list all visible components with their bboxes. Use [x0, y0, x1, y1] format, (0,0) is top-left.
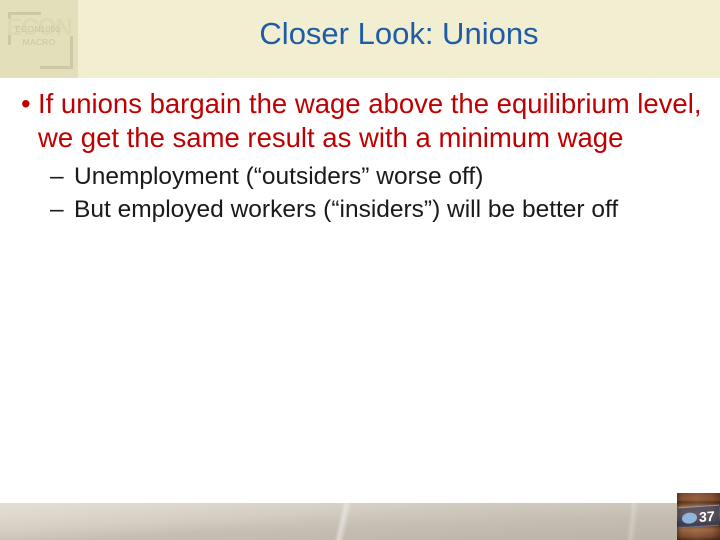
list-item: – Unemployment (“outsiders” worse off) [38, 161, 702, 192]
subbullet-text: But employed workers (“insiders”) will b… [74, 196, 618, 223]
page-title: Closer Look: Unions [78, 16, 720, 52]
logo-course-subject: MACRO [0, 37, 78, 47]
list-item: – But employed workers (“insiders”) will… [38, 194, 702, 225]
bullet-list-level2: – Unemployment (“outsiders” worse off) –… [38, 161, 702, 225]
badge-ellipse-icon [682, 512, 697, 524]
slide-header-band: ECON ECON1050: MACRO Closer Look: Unions [0, 0, 720, 78]
bullet-list-container: • If unions bargain the wage above the e… [0, 87, 720, 227]
subbullet-text: Unemployment (“outsiders” worse off) [74, 163, 483, 190]
page-number: 37 [699, 507, 718, 526]
bullet-dash-icon: – [50, 194, 64, 225]
list-item: • If unions bargain the wage above the e… [0, 87, 720, 225]
slide-number-thumbnail: 37 [677, 493, 720, 540]
slide-footer-photo-band [0, 503, 720, 540]
bullet-list-level1: • If unions bargain the wage above the e… [0, 87, 720, 225]
bullet-dash-icon: – [50, 161, 64, 192]
logo-course-code: ECON1050: [0, 24, 78, 34]
footer-band-sheen [0, 503, 720, 540]
bullet-dot-icon: • [21, 87, 31, 121]
bullet-text: If unions bargain the wage above the equ… [38, 88, 701, 153]
slide-content-area: • If unions bargain the wage above the e… [0, 78, 720, 503]
course-logo: ECON ECON1050: MACRO [0, 0, 78, 78]
slide-number-badge: 37 [678, 505, 719, 529]
presentation-slide: ECON ECON1050: MACRO Closer Look: Unions… [0, 0, 720, 540]
